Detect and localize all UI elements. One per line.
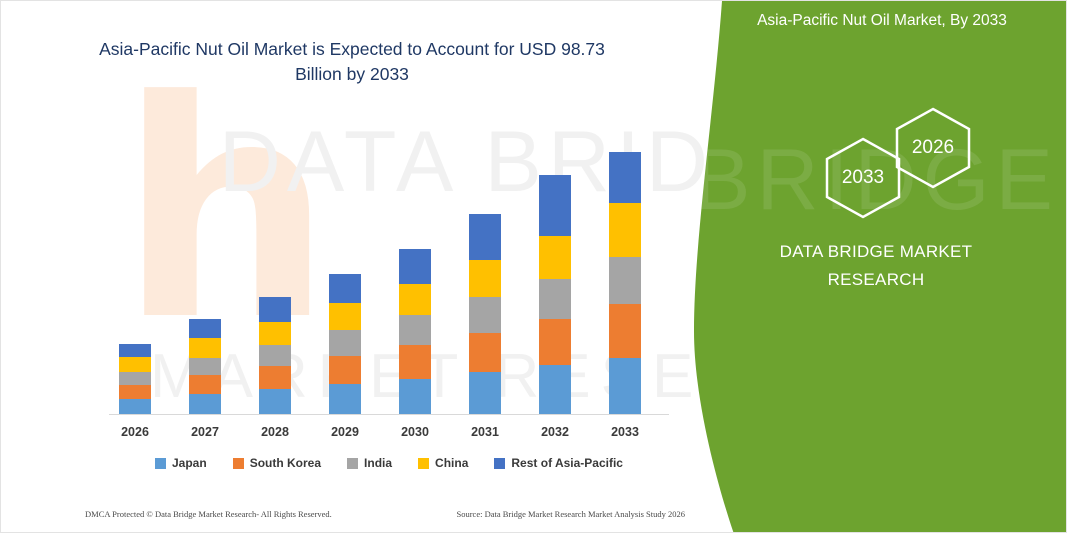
bar-segment-india-2031 <box>469 297 501 332</box>
bar-segment-rest-of-asia-pacific-2028 <box>259 297 291 322</box>
bar-segment-china-2027 <box>189 338 221 357</box>
bar-segment-china-2032 <box>539 236 571 279</box>
bar-segment-india-2027 <box>189 358 221 375</box>
panel-brand-line-2: RESEARCH <box>706 266 1046 294</box>
bar-segment-china-2031 <box>469 260 501 297</box>
footer: DMCA Protected © Data Bridge Market Rese… <box>85 509 685 519</box>
footer-source: Source: Data Bridge Market Research Mark… <box>456 509 685 519</box>
bar-segment-rest-of-asia-pacific-2026 <box>119 344 151 358</box>
x-tick-2027: 2027 <box>175 425 235 439</box>
bar-segment-japan-2033 <box>609 358 641 414</box>
legend-label: South Korea <box>250 456 321 470</box>
bar-segment-india-2033 <box>609 257 641 304</box>
legend-swatch-icon <box>347 458 358 469</box>
bar-segment-japan-2030 <box>399 379 431 414</box>
bar-segment-rest-of-asia-pacific-2033 <box>609 152 641 203</box>
legend-label: Japan <box>172 456 207 470</box>
x-tick-2026: 2026 <box>105 425 165 439</box>
panel-title: Asia-Pacific Nut Oil Market, By 2033 <box>722 9 1042 33</box>
hexagon-badge-2033: 2033 <box>821 136 905 220</box>
infographic-canvas: h DATA BRIDGE MARKET RESEARCH Asia-Pacif… <box>0 0 1067 533</box>
bar-segment-india-2028 <box>259 345 291 366</box>
legend-label: India <box>364 456 392 470</box>
bar-segment-south-korea-2031 <box>469 333 501 372</box>
bar-segment-china-2028 <box>259 322 291 344</box>
legend-item-india[interactable]: India <box>347 456 392 470</box>
bar-2033 <box>609 152 641 414</box>
hexagon-badge-2033-label: 2033 <box>842 167 884 189</box>
bar-2031 <box>469 214 501 414</box>
bar-2030 <box>399 249 431 414</box>
bar-segment-japan-2032 <box>539 365 571 414</box>
bar-segment-china-2029 <box>329 303 361 330</box>
bar-segment-rest-of-asia-pacific-2029 <box>329 274 361 303</box>
bar-segment-south-korea-2029 <box>329 356 361 384</box>
bar-2032 <box>539 175 571 414</box>
bar-segment-japan-2029 <box>329 384 361 414</box>
bar-segment-china-2026 <box>119 357 151 371</box>
bar-segment-rest-of-asia-pacific-2027 <box>189 319 221 338</box>
bar-segment-south-korea-2027 <box>189 375 221 394</box>
legend-label: China <box>435 456 468 470</box>
brand-panel: BRIDGE Asia-Pacific Nut Oil Market, By 2… <box>686 1 1066 533</box>
footer-copyright: DMCA Protected © Data Bridge Market Rese… <box>85 509 332 519</box>
bar-segment-south-korea-2030 <box>399 345 431 378</box>
bar-segment-japan-2031 <box>469 372 501 414</box>
bar-segment-south-korea-2026 <box>119 385 151 399</box>
legend-item-rest-of-asia-pacific[interactable]: Rest of Asia-Pacific <box>494 456 623 470</box>
legend-item-china[interactable]: China <box>418 456 468 470</box>
panel-brand-line-1: DATA BRIDGE MARKET <box>706 238 1046 266</box>
legend-swatch-icon <box>155 458 166 469</box>
bar-segment-south-korea-2032 <box>539 319 571 364</box>
panel-brand-name: DATA BRIDGE MARKET RESEARCH <box>706 238 1046 294</box>
bar-segment-japan-2027 <box>189 394 221 414</box>
bar-segment-japan-2026 <box>119 399 151 414</box>
legend-swatch-icon <box>494 458 505 469</box>
bar-segment-india-2026 <box>119 372 151 385</box>
bar-2029 <box>329 274 361 414</box>
x-tick-2028: 2028 <box>245 425 305 439</box>
x-tick-2032: 2032 <box>525 425 585 439</box>
bar-segment-india-2030 <box>399 315 431 345</box>
bar-segment-india-2029 <box>329 330 361 355</box>
bar-segment-south-korea-2033 <box>609 304 641 358</box>
bar-segment-india-2032 <box>539 279 571 319</box>
bar-segment-japan-2028 <box>259 389 291 414</box>
legend-item-south-korea[interactable]: South Korea <box>233 456 321 470</box>
legend-label: Rest of Asia-Pacific <box>511 456 623 470</box>
legend-swatch-icon <box>418 458 429 469</box>
x-tick-2029: 2029 <box>315 425 375 439</box>
hexagon-badge-2026-label: 2026 <box>912 137 954 159</box>
bar-segment-rest-of-asia-pacific-2031 <box>469 214 501 260</box>
bar-segment-rest-of-asia-pacific-2032 <box>539 175 571 235</box>
x-axis-line <box>109 414 669 415</box>
chart-plot-area: 20262027202820292030203120322033 <box>1 1 701 533</box>
bar-segment-south-korea-2028 <box>259 366 291 389</box>
bar-segment-china-2033 <box>609 203 641 256</box>
bar-2027 <box>189 319 221 414</box>
bar-2028 <box>259 297 291 414</box>
bar-segment-rest-of-asia-pacific-2030 <box>399 249 431 284</box>
legend-item-japan[interactable]: Japan <box>155 456 207 470</box>
bar-2026 <box>119 344 151 414</box>
chart-legend: JapanSouth KoreaIndiaChinaRest of Asia-P… <box>109 456 669 470</box>
bar-segment-china-2030 <box>399 284 431 315</box>
x-tick-2033: 2033 <box>595 425 655 439</box>
legend-swatch-icon <box>233 458 244 469</box>
x-tick-2031: 2031 <box>455 425 515 439</box>
x-tick-2030: 2030 <box>385 425 445 439</box>
